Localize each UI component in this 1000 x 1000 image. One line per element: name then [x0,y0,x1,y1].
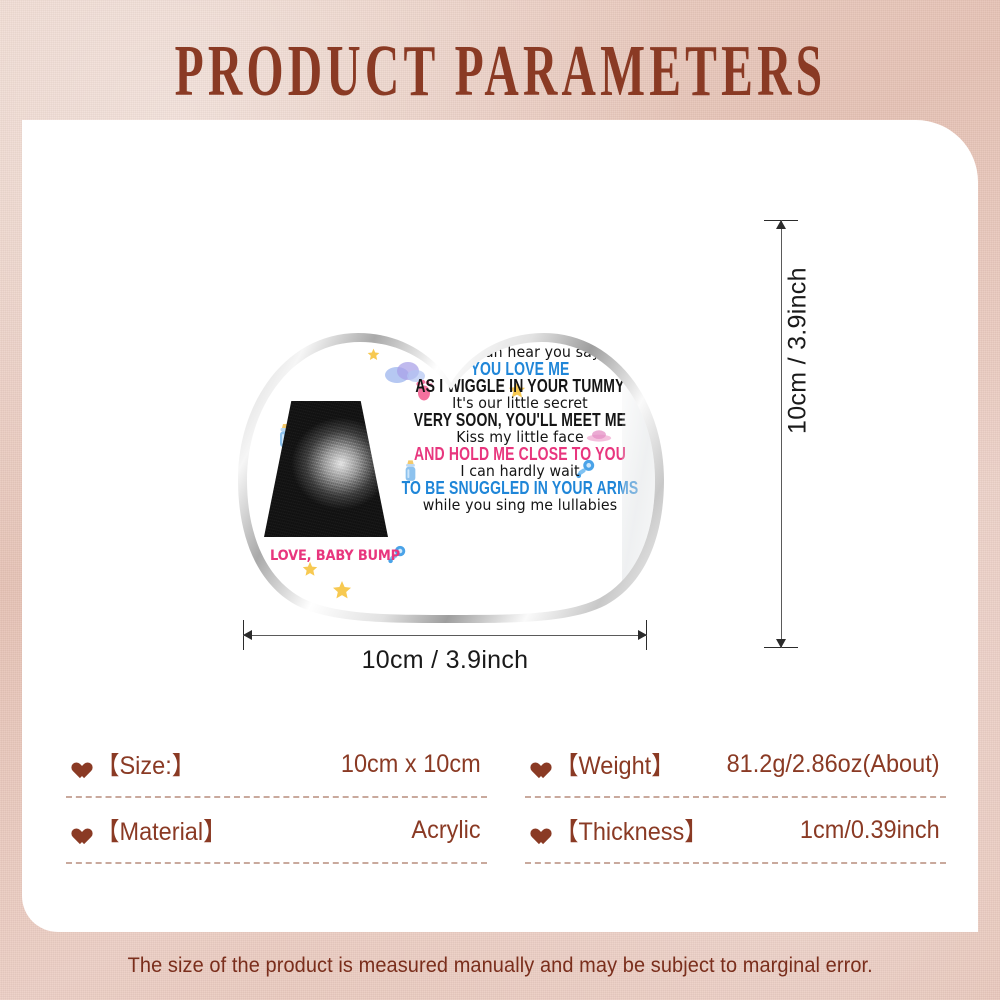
header: PRODUCT PARAMETERS [0,30,1000,110]
spec-row: 【Size:】10cm x 10cm [66,732,487,798]
height-dimension-label: 10cm / 3.9inch [784,267,813,434]
plaque-message-line: while you sing me lullabies [376,499,664,514]
ultrasound-photo [264,401,388,537]
arrow-up-icon [776,220,786,229]
spec-value: 81.2g/2.86oz(About) [727,750,940,779]
spec-key: 【Thickness】 [555,812,708,848]
dimension-line [243,635,647,636]
plaque-printed-face: LOVE, BABY BUMP DEAR mommy I KNOW WE HAV… [236,205,666,625]
dimension-line [781,220,782,648]
plaque-message-line: VERY SOON, YOU'LL MEET ME [388,412,653,431]
spec-key-group: 【Weight】 [527,746,682,782]
spec-key: 【Material】 [96,812,227,848]
spec-row: 【Thickness】1cm/0.39inch [525,798,946,864]
spec-value: 10cm x 10cm [341,750,481,779]
baby-hat-icon [596,309,624,325]
width-dimension-label: 10cm / 3.9inch [243,646,647,675]
product-stage: LOVE, BABY BUMP DEAR mommy I KNOW WE HAV… [22,120,978,700]
heart-icon [527,822,546,839]
plaque-message-line: AS I WIGGLE IN YOUR TUMMY [388,378,653,397]
arrow-left-icon [243,630,252,640]
footer: The size of the product is measured manu… [0,932,1000,1000]
plaque-heading-mommy: mommy [376,272,664,317]
star-icon [332,580,352,600]
spec-key-group: 【Size:】 [68,746,202,782]
content-card: LOVE, BABY BUMP DEAR mommy I KNOW WE HAV… [22,120,978,932]
arrow-right-icon [638,630,647,640]
spec-key-group: 【Thickness】 [527,812,718,848]
spec-key-group: 【Material】 [68,812,235,848]
specifications-table: 【Size:】10cm x 10cm【Weight】81.2g/2.86oz(A… [66,732,946,864]
heart-icon [68,756,87,773]
plaque-heading-dear: DEAR [376,233,664,273]
spec-row: 【Material】Acrylic [66,798,487,864]
spec-row: 【Weight】81.2g/2.86oz(About) [525,732,946,798]
heart-icon [527,756,546,773]
spec-key: 【Size:】 [96,746,195,782]
width-dimension: 10cm / 3.9inch [243,620,647,680]
heart-icon [68,822,87,839]
heart-acrylic-plaque: LOVE, BABY BUMP DEAR mommy I KNOW WE HAV… [236,205,666,625]
height-dimension: 10cm / 3.9inch [764,220,824,648]
plaque-message-line: TO BE SNUGGLED IN YOUR ARMS [388,480,653,499]
page-title: PRODUCT PARAMETERS [174,33,826,106]
plaque-message-line: AND HOLD ME CLOSE TO YOU [388,446,653,465]
signature-text: LOVE, BABY BUMP [270,549,400,565]
spec-value: Acrylic [412,816,481,845]
spec-value: 1cm/0.39inch [800,816,940,845]
arrow-down-icon [776,639,786,648]
footer-note: The size of the product is measured manu… [127,954,872,978]
spec-key: 【Weight】 [555,746,675,782]
